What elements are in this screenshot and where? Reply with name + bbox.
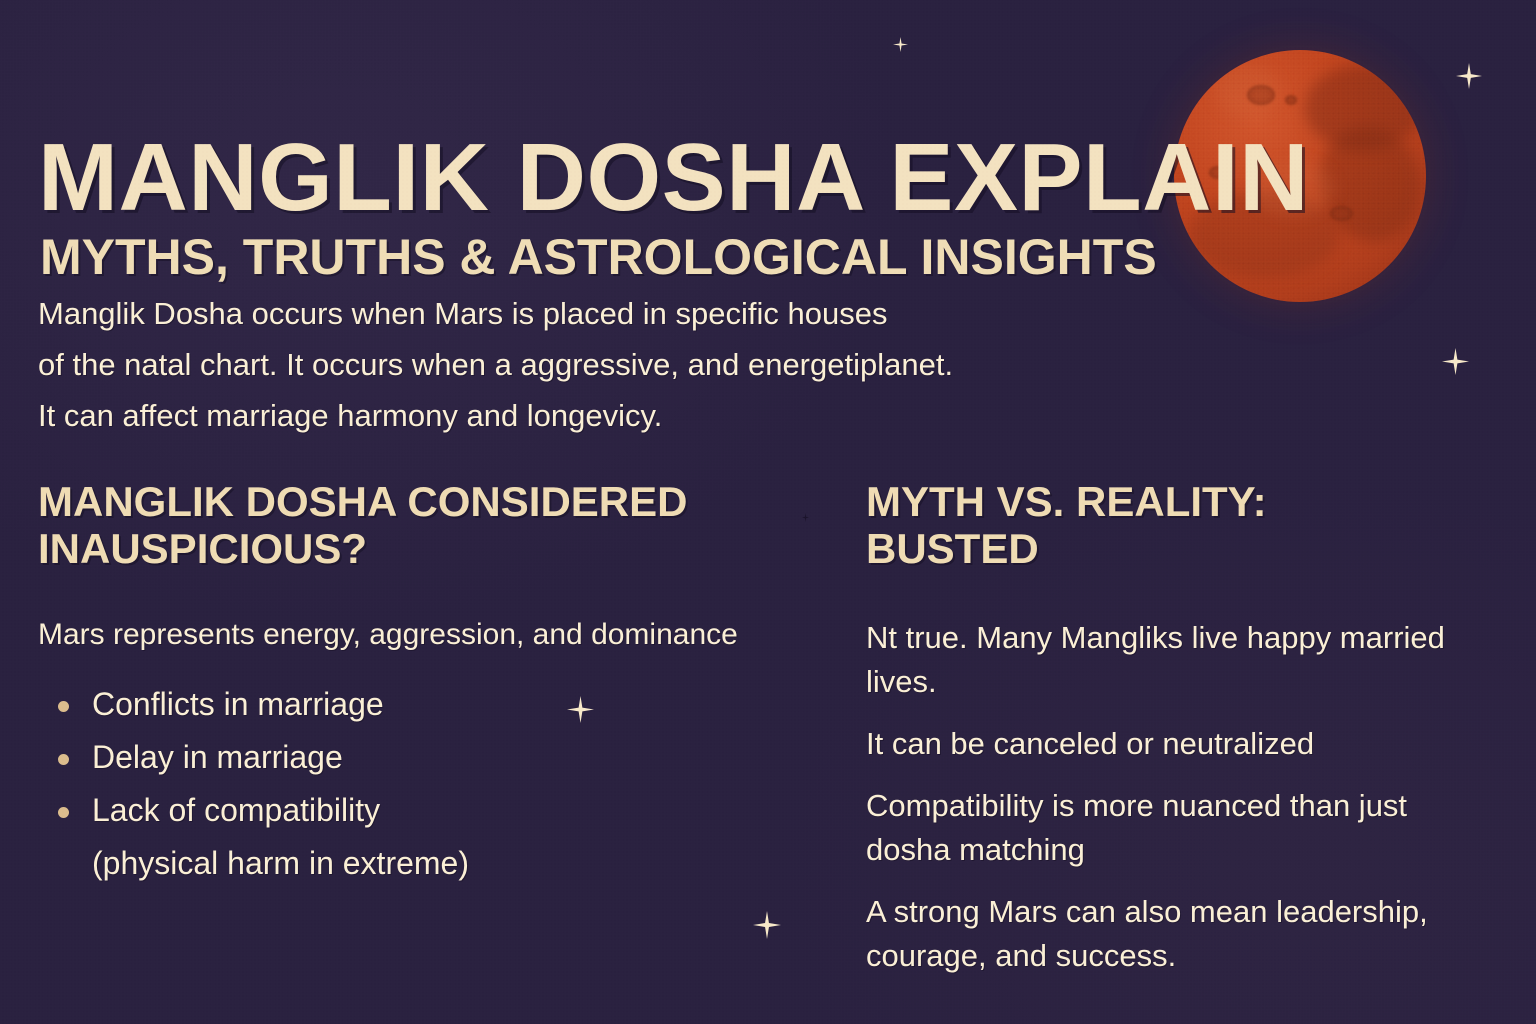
myth-reality-list: Nt true. Many Mangliks live happy marrie… — [866, 616, 1486, 978]
list-item: A strong Mars can also mean leadership, … — [866, 890, 1446, 978]
list-item: Lack of compatibility (physical harm in … — [56, 784, 888, 890]
intro-line: Manglik Dosha occurs when Mars is placed… — [38, 288, 1158, 339]
right-column: MYTH VS. REALITY: BUSTED Nt true. Many M… — [866, 478, 1486, 978]
left-column: MANGLIK DOSHA CONSIDERED INAUSPICIOUS? M… — [38, 478, 888, 890]
list-item-label: Conflicts in marriage — [92, 686, 384, 722]
left-column-lead: Mars represents energy, aggression, and … — [38, 616, 888, 654]
right-column-heading: MYTH VS. REALITY: BUSTED — [866, 478, 1486, 572]
list-item-label: Lack of compatibility — [92, 792, 380, 828]
list-item: Nt true. Many Mangliks live happy marrie… — [866, 616, 1446, 704]
list-item-label: Delay in marriage — [92, 739, 343, 775]
bullet-dot-icon — [58, 807, 69, 818]
heading-line: BUSTED — [866, 525, 1486, 572]
infographic-poster: MANGLIK DOSHA EXPLAIN MYTHS, TRUTHS & AS… — [0, 0, 1536, 1024]
page-title: MANGLIK DOSHA EXPLAIN — [38, 130, 1309, 226]
bullet-dot-icon — [58, 754, 69, 765]
bullet-dot-icon — [58, 701, 69, 712]
left-column-heading: MANGLIK DOSHA CONSIDERED INAUSPICIOUS? — [38, 478, 888, 572]
list-item-sublabel: (physical harm in extreme) — [92, 837, 888, 890]
list-item: Conflicts in marriage — [56, 678, 888, 731]
intro-line: It can affect marriage harmony and longe… — [38, 390, 1158, 441]
effects-bullet-list: Conflicts in marriage Delay in marriage … — [38, 678, 888, 890]
intro-paragraph: Manglik Dosha occurs when Mars is placed… — [38, 288, 1158, 441]
list-item: It can be canceled or neutralized — [866, 722, 1446, 766]
page-subtitle: MYTHS, TRUTHS & ASTROLOGICAL INSIGHTS — [40, 232, 1157, 282]
heading-line: MYTH VS. REALITY: — [866, 478, 1486, 525]
list-item: Delay in marriage — [56, 731, 888, 784]
list-item: Compatibility is more nuanced than just … — [866, 784, 1446, 872]
intro-line: of the natal chart. It occurs when a agg… — [38, 339, 1158, 390]
heading-line: MANGLIK DOSHA CONSIDERED — [38, 478, 888, 525]
heading-line: INAUSPICIOUS? — [38, 525, 888, 572]
